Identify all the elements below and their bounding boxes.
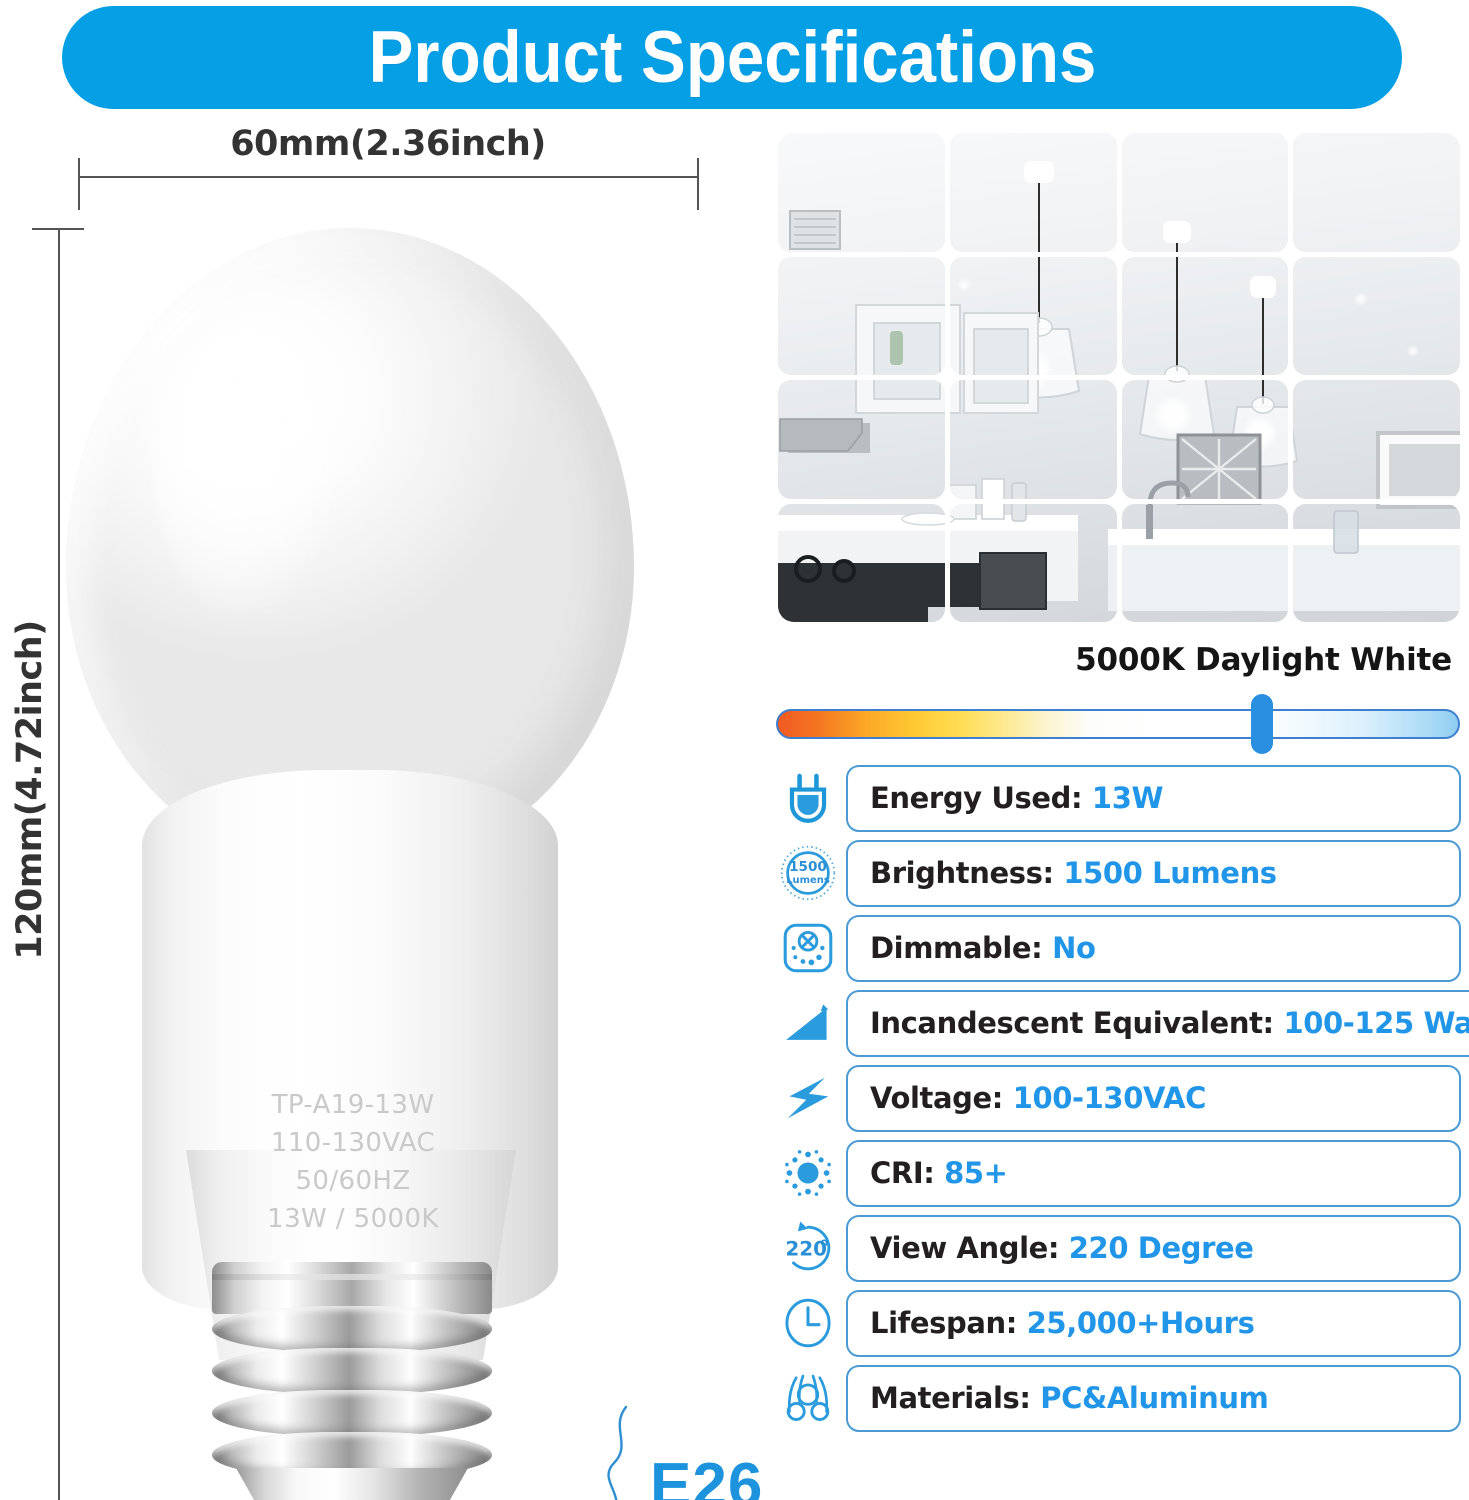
bulb-dimension-panel: 60mm(2.36inch) 120mm(4.72inch) TP-A19-13… [0,110,760,1500]
bulb-print-line-2: 110-130VAC [178,1124,528,1162]
mosaic-tile-image [1122,380,1289,499]
mosaic-tile [778,133,945,252]
spec-value-box: Voltage: 100-130VAC [846,1065,1461,1132]
e26-base-callout: E26 BASE [650,1455,766,1500]
spec-list: Energy Used: 13WBrightness: 1500 LumensD… [770,763,1469,1438]
spec-row: Materials: PC&Aluminum [770,1363,1469,1433]
bulb-print-line-4: 13W / 5000K [178,1200,528,1238]
mosaic-tile-image [950,257,1117,376]
spec-value: 100-125 Watts [1283,1006,1469,1040]
e26-code: E26 [650,1455,766,1500]
view-angle-220-icon [770,1214,846,1282]
spec-text: Voltage: 100-130VAC [870,1081,1206,1115]
mosaic-tile [950,133,1117,252]
mosaic-tile [1293,257,1460,376]
mosaic-tile-image [1293,133,1460,252]
bulb-screw-thread [212,1306,492,1352]
spec-value: 25,000+Hours [1027,1306,1255,1340]
bulb-screw-thread [212,1390,492,1436]
bulb-print-line-1: TP-A19-13W [178,1086,528,1124]
spec-row: Energy Used: 13W [770,763,1469,833]
mosaic-tile-image [778,380,945,499]
mosaic-tile [1293,380,1460,499]
spec-value-box: Brightness: 1500 Lumens [846,840,1461,907]
color-temperature-title: 5000K Daylight White [770,642,1460,678]
width-dimension-label: 60mm(2.36inch) [78,124,698,164]
spec-row: Incandescent Equivalent: 100-125 Watts [770,988,1469,1058]
spec-label: Incandescent Equivalent: [870,1006,1283,1040]
bulb-screw-thread [212,1348,492,1394]
bulb-base-cone [236,1468,468,1500]
mosaic-tile [778,380,945,499]
spec-text: Materials: PC&Aluminum [870,1381,1268,1415]
spec-value-box: Lifespan: 25,000+Hours [846,1290,1461,1357]
spec-value: 220 Degree [1069,1231,1254,1265]
spec-text: Brightness: 1500 Lumens [870,856,1277,890]
height-dimension-label: 120mm(4.72inch) [10,530,50,1050]
mosaic-tile [1293,504,1460,623]
bulb-printed-label: TP-A19-13W 110-130VAC 50/60HZ 13W / 5000… [178,1086,528,1238]
lumens-badge-icon [770,839,846,907]
kitchen-photo-mosaic [778,133,1460,622]
spec-label: Dimmable: [870,931,1052,965]
mosaic-tile [950,380,1117,499]
spec-value-box: Dimmable: No [846,915,1461,982]
spec-value-box: CRI: 85+ [846,1140,1461,1207]
mosaic-tile-image [1122,257,1289,376]
mosaic-tile [1122,380,1289,499]
bulb-highlight [154,320,344,620]
spec-label: View Angle: [870,1231,1069,1265]
product-spec-infographic: Product Specifications 60mm(2.36inch) 12… [0,0,1469,1500]
mosaic-tile-image [1293,257,1460,376]
spec-label: Energy Used: [870,781,1092,815]
mosaic-tile-image [950,380,1117,499]
spec-value: No [1052,931,1095,965]
mosaic-tile [778,504,945,623]
mosaic-tile-image [778,257,945,376]
plug-icon [770,764,846,832]
led-bulb-illustration: TP-A19-13W 110-130VAC 50/60HZ 13W / 5000… [60,210,660,1500]
spec-row: Dimmable: No [770,913,1469,983]
lightning-bolt-icon [770,1064,846,1132]
width-tick-right [697,158,699,210]
spec-text: Dimmable: No [870,931,1096,965]
color-temperature-slider-track[interactable] [776,709,1460,739]
mosaic-tile-image [1293,504,1460,623]
mosaic-tile-image [778,504,945,623]
spec-value: PC&Aluminum [1040,1381,1268,1415]
spec-row: View Angle: 220 Degree [770,1213,1469,1283]
mosaic-tile [1122,504,1289,623]
spec-row: Lifespan: 25,000+Hours [770,1288,1469,1358]
spec-value: 13W [1092,781,1163,815]
mosaic-tile [950,504,1117,623]
spec-label: Voltage: [870,1081,1013,1115]
no-dimmer-icon [770,914,846,982]
mosaic-tile [1122,133,1289,252]
spec-text: Incandescent Equivalent: 100-125 Watts [870,1006,1469,1040]
spec-value-box: Energy Used: 13W [846,765,1461,832]
spec-text: View Angle: 220 Degree [870,1231,1254,1265]
spec-row: CRI: 85+ [770,1138,1469,1208]
mosaic-tile [1122,257,1289,376]
clock-lifespan-icon [770,1289,846,1357]
sun-rays-icon [770,1139,846,1207]
mosaic-tile-image [1293,380,1460,499]
width-dimension-line [78,176,698,178]
mosaic-tile [1293,133,1460,252]
mosaic-tile-image [1122,133,1289,252]
incandescent-wedge-icon [770,989,846,1057]
spec-label: Lifespan: [870,1306,1027,1340]
specs-panel: 5000K Daylight White Energy Used: 13WBri… [770,0,1469,1500]
spec-text: Lifespan: 25,000+Hours [870,1306,1254,1340]
spec-text: Energy Used: 13W [870,781,1163,815]
spec-value-box: View Angle: 220 Degree [846,1215,1461,1282]
spec-row: Brightness: 1500 Lumens [770,838,1469,908]
spec-value: 100-130VAC [1013,1081,1206,1115]
e26-brace-icon [580,1405,640,1500]
color-temperature-slider-handle[interactable] [1251,694,1273,754]
mosaic-tile [950,257,1117,376]
mosaic-tile-image [950,504,1117,623]
mosaic-tile-image [1122,504,1289,623]
spec-label: Materials: [870,1381,1040,1415]
spec-text: CRI: 85+ [870,1156,1008,1190]
width-tick-left [78,158,80,210]
spec-value: 1500 Lumens [1063,856,1276,890]
spec-label: CRI: [870,1156,944,1190]
materials-tubes-icon [770,1364,846,1432]
mosaic-tile-image [950,133,1117,252]
spec-row: Voltage: 100-130VAC [770,1063,1469,1133]
spec-label: Brightness: [870,856,1063,890]
spec-value-box: Materials: PC&Aluminum [846,1365,1461,1432]
spec-value-box: Incandescent Equivalent: 100-125 Watts [846,990,1469,1057]
mosaic-tile [778,257,945,376]
spec-value: 85+ [944,1156,1007,1190]
mosaic-tile-image [778,133,945,252]
bulb-print-line-3: 50/60HZ [178,1162,528,1200]
